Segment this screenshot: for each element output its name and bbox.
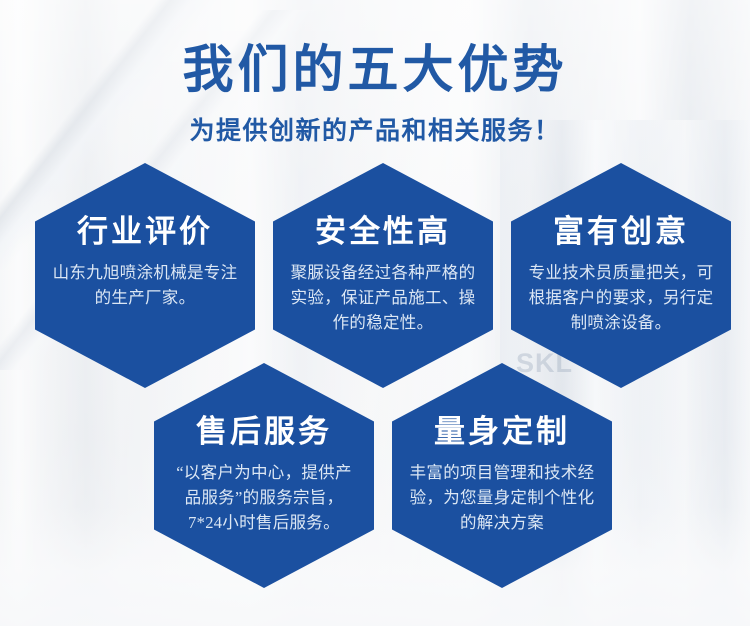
advantage-body-2: 聚脲设备经过各种严格的实验，保证产品施工、操作的稳定性。 bbox=[290, 261, 476, 335]
header-block: 我们的五大优势 为提供创新的产品和相关服务！ bbox=[0, 0, 750, 147]
advantage-body-1: 山东九旭喷涂机械是专注的生产厂家。 bbox=[52, 261, 238, 311]
page-subtitle: 为提供创新的产品和相关服务！ bbox=[0, 99, 750, 147]
advantage-title-3: 富有创意 bbox=[553, 215, 689, 249]
page-title: 我们的五大优势 bbox=[0, 0, 750, 99]
advantage-body-3: 专业技术员质量把关，可根据客户的要求，另行定制喷涂设备。 bbox=[528, 261, 714, 335]
advantage-title-5: 量身定制 bbox=[434, 415, 570, 449]
advantage-title-2: 安全性高 bbox=[315, 215, 451, 249]
advantages-poster: SKL 我们的五大优势 为提供创新的产品和相关服务！ 行业评价 山东九旭喷涂机械… bbox=[0, 0, 750, 626]
advantage-body-5: 丰富的项目管理和技术经验，为您量身定制个性化的解决方案 bbox=[406, 461, 598, 535]
advantage-body-4: “以客户为中心，提供产品服务”的服务宗旨，7*24小时售后服务。 bbox=[168, 461, 360, 535]
advantage-title-4: 售后服务 bbox=[196, 415, 332, 449]
advantage-title-1: 行业评价 bbox=[77, 215, 213, 249]
